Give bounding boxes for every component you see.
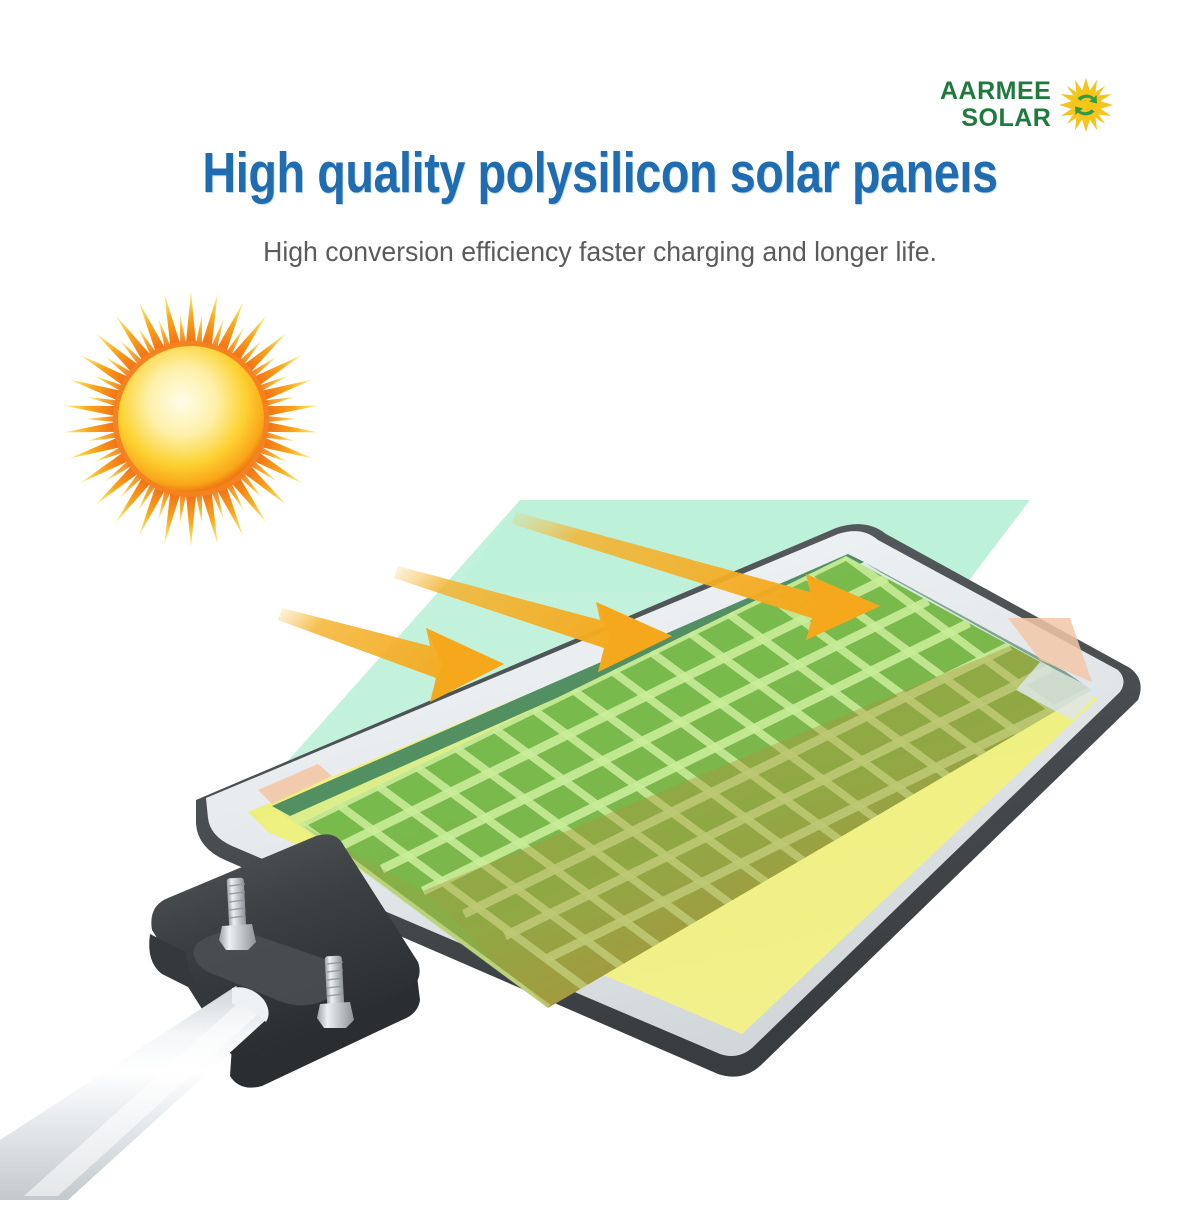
solar-streetlight-illustration xyxy=(0,0,1200,1200)
product-banner: AARMEE SOLAR xyxy=(0,0,1200,1200)
mounting-pole xyxy=(0,986,269,1200)
